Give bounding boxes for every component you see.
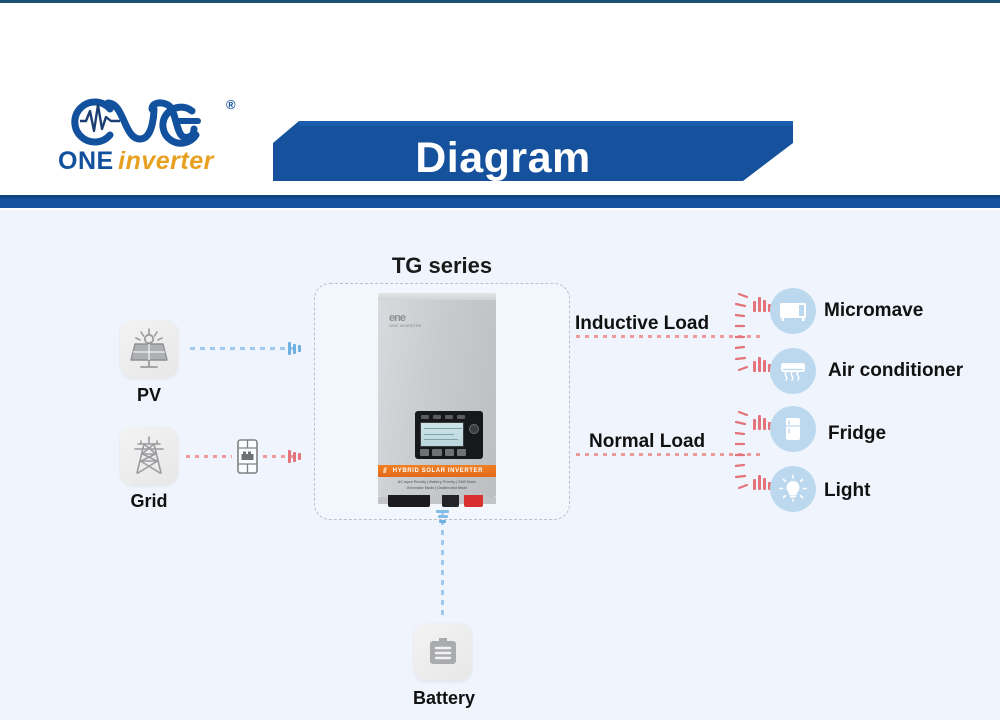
inverter-mode-line-2: Generator Mode | Unattended Mode — [378, 485, 496, 491]
inverter-front-panel: ene ONE INVERTER /// HYBRID SOLAR INVE — [378, 300, 496, 497]
lcd-indicator-leds — [421, 415, 465, 420]
light-label: Light — [824, 480, 870, 502]
header-blue-bar-highlight — [0, 195, 1000, 198]
grid-tile[interactable] — [120, 427, 178, 485]
circuit-breaker[interactable] — [235, 439, 260, 474]
gae-wave-logo-icon — [64, 95, 224, 147]
brand-wordmark: ONE inverter — [58, 147, 258, 176]
microwave-tile[interactable] — [770, 288, 816, 334]
connector-inductive-load — [576, 335, 760, 338]
inductive-load-label: Inductive Load — [575, 313, 709, 335]
pv-tile[interactable] — [120, 320, 178, 378]
microwave-icon — [778, 296, 808, 326]
microwave-feed-icon — [753, 296, 771, 312]
battery-label: Battery — [384, 688, 504, 709]
air-conditioner-tile[interactable] — [770, 348, 816, 394]
connector-pv-arrow-icon — [288, 341, 301, 356]
normal-load-label: Normal Load — [589, 431, 705, 453]
battery-tile[interactable] — [414, 623, 472, 681]
ac-feed-icon — [753, 356, 771, 372]
ghost-watermark-text — [265, 17, 495, 67]
inverter-brand-sub: ONE INVERTER — [389, 323, 431, 328]
power-tower-icon — [120, 427, 178, 485]
series-title: TG series — [314, 253, 570, 279]
page-header: ® ONE inverter Diagram — [0, 3, 1000, 210]
pv-label: PV — [89, 385, 209, 406]
inverter-terminal-positive — [464, 495, 483, 507]
battery-icon — [414, 623, 472, 681]
air-conditioner-icon — [778, 356, 808, 386]
diagram-banner: Diagram — [273, 121, 793, 196]
fridge-feed-icon — [753, 414, 771, 430]
inverter-brand-logo: ene ONE INVERTER — [389, 314, 431, 331]
connector-inverter-to-battery — [441, 510, 444, 620]
fridge-icon — [778, 414, 808, 444]
inverter-mode-text: AC Input Priority | Battery Priority | S… — [378, 479, 496, 491]
banner-title: Diagram — [273, 121, 793, 196]
light-tile[interactable] — [770, 466, 816, 512]
brand-logo: ® ONE inverter — [58, 95, 253, 185]
air-conditioner-label: Air conditioner — [828, 360, 963, 382]
registered-mark: ® — [226, 97, 236, 112]
fridge-tile[interactable] — [770, 406, 816, 452]
solar-panel-icon — [120, 320, 178, 378]
light-feed-icon — [753, 474, 771, 490]
lcd-screen — [420, 422, 464, 447]
circuit-breaker-icon — [235, 439, 260, 474]
light-bulb-icon — [778, 474, 808, 504]
inverter-brand-mark: ene — [389, 314, 431, 323]
diagram-page: ® ONE inverter Diagram — [0, 0, 1000, 720]
inverter-terminal-negative — [442, 495, 459, 507]
brand-word-inverter: inverter — [118, 147, 214, 175]
microwave-label: Micromave — [824, 300, 923, 322]
connector-pv-to-inverter — [190, 347, 294, 350]
inverter-lcd-panel[interactable] — [415, 411, 483, 459]
lcd-button-row[interactable] — [420, 449, 466, 456]
grid-label: Grid — [89, 491, 209, 512]
brand-word-one: ONE — [58, 147, 114, 175]
inverter-label-band: /// HYBRID SOLAR INVERTER — [378, 465, 496, 477]
fridge-label: Fridge — [828, 423, 886, 445]
inverter-terminal-ac — [388, 495, 430, 507]
diagram-canvas: TG series ene ONE INVERTER — [0, 210, 1000, 720]
inverter-device: ene ONE INVERTER /// HYBRID SOLAR INVE — [378, 293, 496, 505]
lcd-rotary-knob[interactable] — [469, 424, 479, 434]
connector-grid-arrow-icon — [288, 449, 301, 464]
inverter-band-text: HYBRID SOLAR INVERTER — [386, 468, 496, 474]
connector-grid-to-breaker — [186, 455, 232, 458]
connector-normal-load — [576, 453, 760, 456]
